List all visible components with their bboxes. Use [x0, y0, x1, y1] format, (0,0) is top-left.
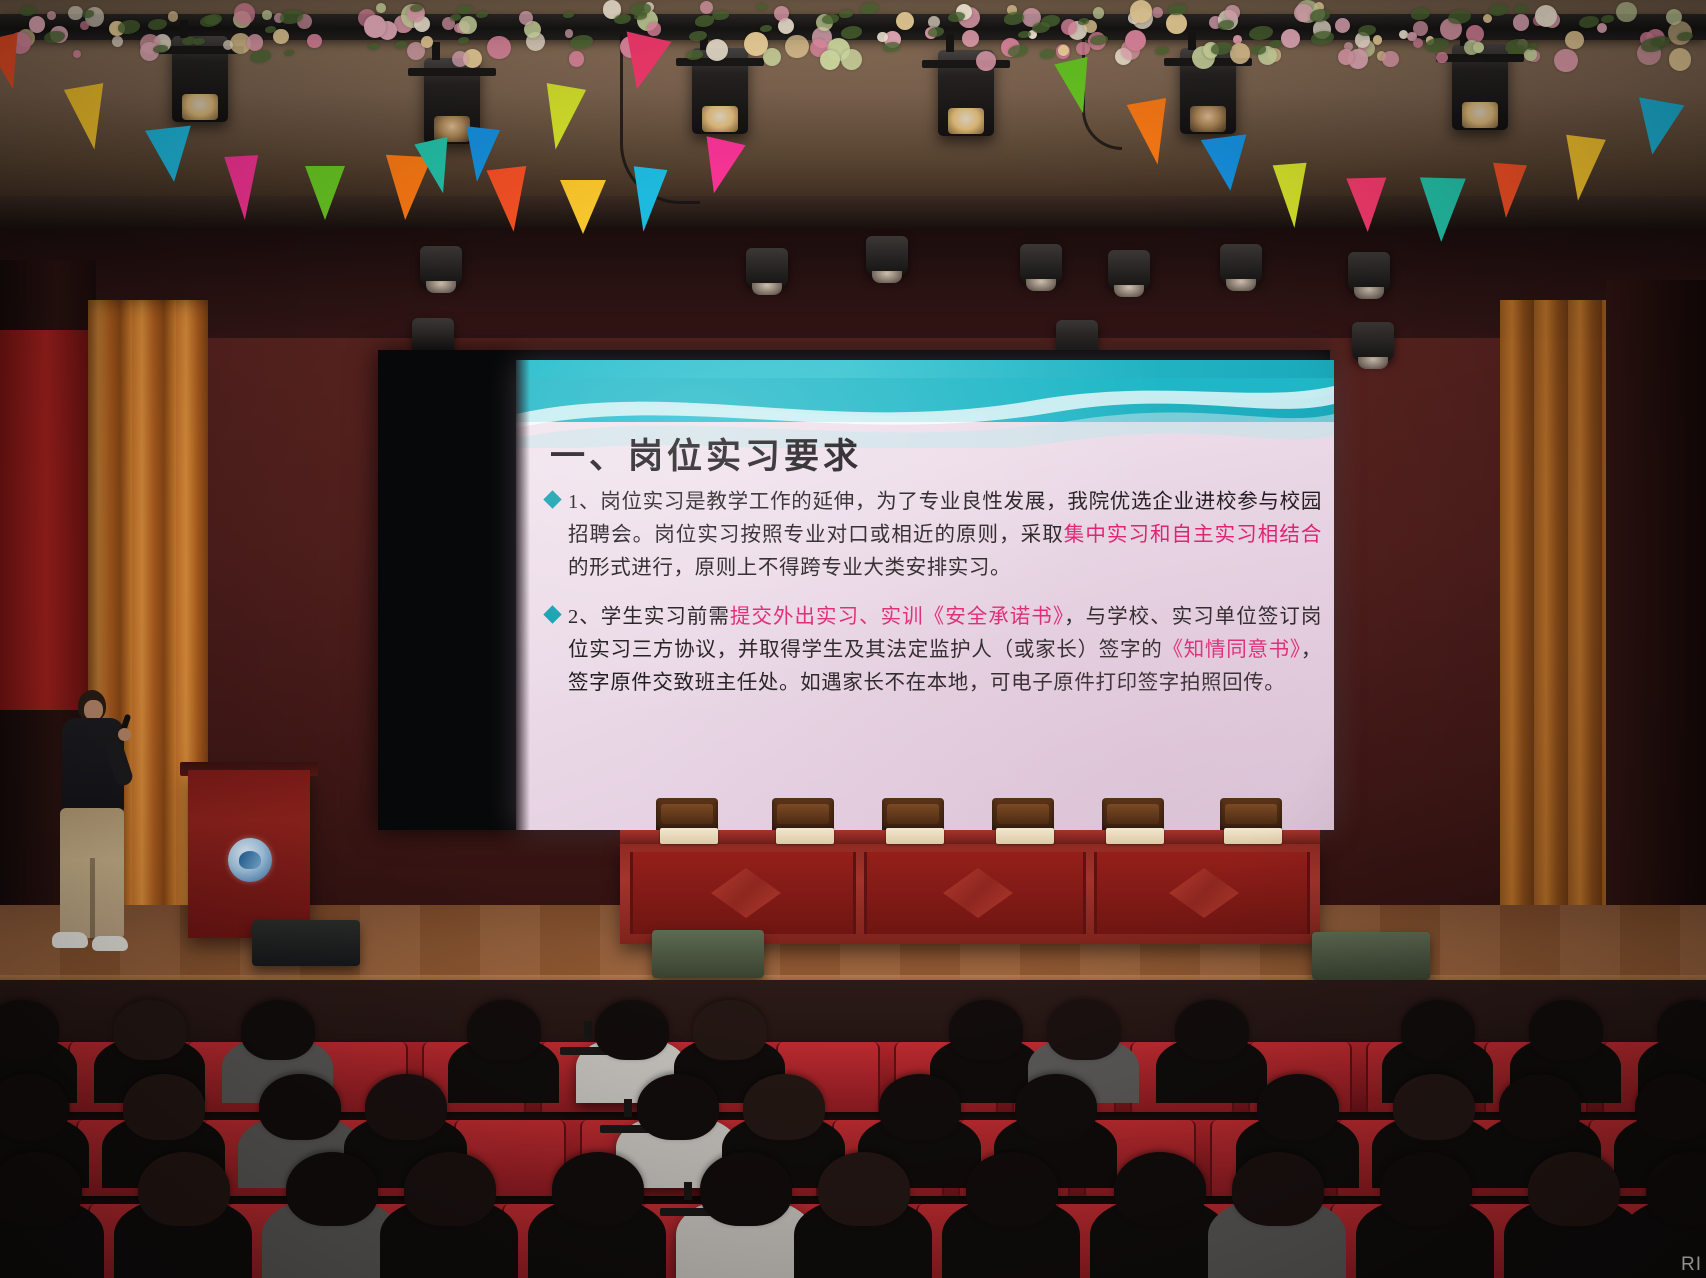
table-diamond-motif: [943, 868, 1013, 918]
table-top-surface: [620, 830, 1320, 844]
table-panel: [1094, 852, 1310, 934]
audience-head: [404, 1152, 496, 1226]
bunting-flag-string: [0, 0, 1706, 210]
bunting-flag: [1559, 135, 1607, 204]
audience-head: [966, 1152, 1058, 1226]
audience-head: [1047, 1000, 1121, 1060]
photo-scene: 一、岗位实习要求 1、岗位实习是教学工作的延伸，为了专业良性发展，我院优选企业进…: [0, 0, 1706, 1278]
audience-head: [0, 1152, 82, 1226]
bunting-flag: [1418, 178, 1466, 243]
bunting-flag: [145, 125, 197, 184]
audience-head: [1257, 1074, 1339, 1140]
ceiling-spotlight: [1352, 322, 1394, 362]
audience-head: [552, 1152, 644, 1226]
ceiling-spotlight: [1108, 250, 1150, 290]
chair: [656, 798, 718, 832]
audience-head: [365, 1074, 447, 1140]
bunting-flag: [1630, 97, 1685, 158]
bullet-1-highlight-1: 集中实习和自主实习相结合: [1064, 524, 1322, 546]
stage-monitor-speaker: [652, 930, 764, 978]
stage-monitor-speaker: [252, 920, 360, 966]
bullet-2-seg-1: 2、学生实习前需: [568, 606, 730, 628]
bunting-flag: [1126, 98, 1177, 168]
slide-title: 一、岗位实习要求: [550, 428, 862, 479]
wall-red-panel: [0, 330, 92, 710]
stage-curtain-right: [1500, 300, 1610, 920]
audience-head: [1232, 1152, 1324, 1226]
audience-head: [1015, 1074, 1097, 1140]
audience-head: [1175, 1000, 1249, 1060]
bunting-flag: [560, 180, 606, 234]
screen-left-shadow: [516, 360, 530, 830]
audience-head: [818, 1152, 910, 1226]
audience-head: [1393, 1074, 1475, 1140]
bullet-1-text: 1、岗位实习是教学工作的延伸，为了专业良性发展，我院优选企业进校参与校园招聘会。…: [568, 486, 1322, 585]
slide-body: 1、岗位实习是教学工作的延伸，为了专业良性发展，我院优选企业进校参与校园招聘会。…: [546, 486, 1322, 716]
school-emblem-icon: [228, 838, 272, 882]
audience-head: [1380, 1152, 1472, 1226]
ceiling-spotlight: [420, 246, 462, 286]
nameplate: [996, 828, 1054, 844]
audience-head: [467, 1000, 541, 1060]
bunting-flag: [1699, 57, 1706, 127]
diamond-bullet-icon: [543, 490, 561, 508]
bunting-flag: [64, 83, 114, 153]
table-panel: [630, 852, 856, 934]
photo-watermark: RI: [1681, 1254, 1702, 1276]
audience-head: [1528, 1152, 1620, 1226]
bunting-flag: [1054, 57, 1099, 117]
curtain-right-shadow: [1606, 280, 1706, 940]
ceiling-spotlight: [1220, 244, 1262, 284]
audience-head: [138, 1152, 230, 1226]
audience-head: [1401, 1000, 1475, 1060]
bullet-2-highlight-1: 提交外出实习、实训《安全承诺书》: [730, 606, 1064, 628]
ceiling-spotlight: [866, 236, 908, 276]
audience-head: [595, 1000, 669, 1060]
presenter-shoe-right: [92, 936, 128, 951]
presenter-leg-seam: [90, 858, 95, 940]
ceiling-spotlight: [1020, 244, 1062, 284]
audience-head: [693, 1000, 767, 1060]
bunting-flag: [1200, 134, 1252, 193]
bunting-flag: [1489, 163, 1527, 219]
audience-head: [1499, 1074, 1581, 1140]
presentation-screen: 一、岗位实习要求 1、岗位实习是教学工作的延伸，为了专业良性发展，我院优选企业进…: [516, 360, 1334, 830]
bunting-flag: [615, 32, 672, 95]
audience-head: [286, 1152, 378, 1226]
presenter-hand: [118, 728, 131, 741]
chair: [772, 798, 834, 832]
table-diamond-motif: [711, 868, 781, 918]
chair: [1102, 798, 1164, 832]
nameplate: [660, 828, 718, 844]
chair: [882, 798, 944, 832]
presenter-face: [84, 700, 103, 720]
audience-head: [113, 1000, 187, 1060]
audience-head: [743, 1074, 825, 1140]
audience-head: [1529, 1000, 1603, 1060]
bunting-flag: [536, 83, 586, 153]
head-table: [620, 812, 1320, 944]
audience-head: [1635, 1074, 1706, 1140]
table-panel: [864, 852, 1086, 934]
audience-head: [700, 1152, 792, 1226]
nameplate: [886, 828, 944, 844]
audience-head: [949, 1000, 1023, 1060]
ceiling-spotlight: [1348, 252, 1390, 292]
diamond-bullet-icon: [543, 605, 561, 623]
chair: [1220, 798, 1282, 832]
audience-head: [259, 1074, 341, 1140]
ceiling-spotlight: [746, 248, 788, 288]
audience-head: [879, 1074, 961, 1140]
nameplate: [776, 828, 834, 844]
slide-surface: 一、岗位实习要求 1、岗位实习是教学工作的延伸，为了专业良性发展，我院优选企业进…: [516, 360, 1334, 830]
audience-head: [123, 1074, 205, 1140]
audience-head: [1114, 1152, 1206, 1226]
bunting-flag: [694, 136, 745, 198]
bunting-flag: [0, 33, 30, 93]
bunting-flag: [1273, 163, 1312, 229]
bunting-flag: [224, 155, 262, 221]
bullet-1-seg-2: 的形式进行，原则上不得跨专业大类安排实习。: [568, 557, 1011, 579]
audience-head: [0, 1000, 59, 1060]
table-diamond-motif: [1169, 868, 1239, 918]
chair: [992, 798, 1054, 832]
stage-monitor-speaker: [1312, 932, 1430, 980]
bunting-flag: [1346, 178, 1387, 233]
ceiling-shadow: [0, 228, 1706, 338]
audience-head: [637, 1074, 719, 1140]
bunting-flag: [626, 167, 667, 234]
bunting-flag: [487, 166, 534, 234]
nameplate: [1224, 828, 1282, 844]
presenter-shoe-left: [52, 932, 88, 948]
nameplate: [1106, 828, 1164, 844]
audience-area: [0, 980, 1706, 1278]
slide-bullet-1: 1、岗位实习是教学工作的延伸，为了专业良性发展，我院优选企业进校参与校园招聘会。…: [546, 486, 1322, 585]
bullet-2-text: 2、学生实习前需提交外出实习、实训《安全承诺书》，与学校、实习单位签订岗位实习三…: [568, 601, 1322, 700]
audience-head: [1657, 1000, 1706, 1060]
audience-head: [241, 1000, 315, 1060]
bullet-2-highlight-2: 《知情同意书》: [1163, 639, 1301, 661]
slide-bullet-2: 2、学生实习前需提交外出实习、实训《安全承诺书》，与学校、实习单位签订岗位实习三…: [546, 601, 1322, 700]
bunting-flag: [305, 166, 345, 220]
